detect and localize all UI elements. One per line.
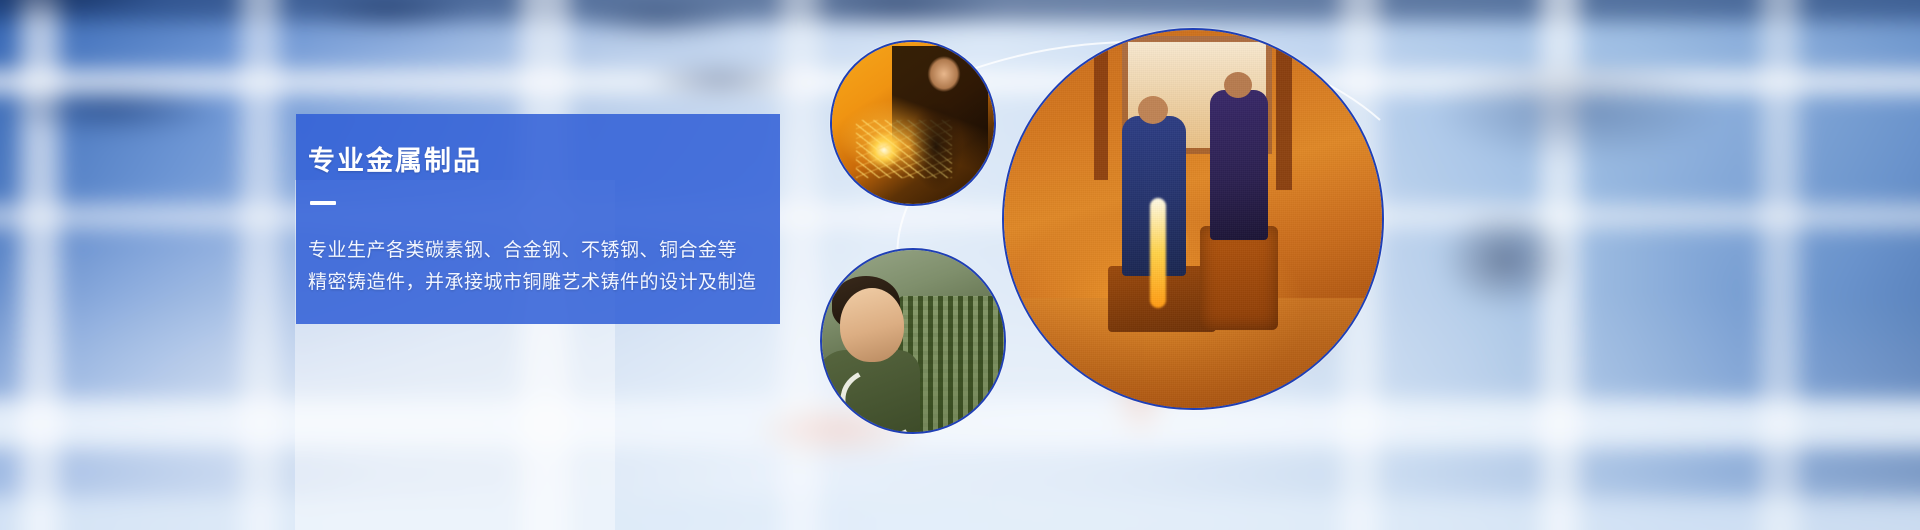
welding-sparks-photo: [830, 40, 996, 206]
panel-description: 专业生产各类碳素钢、合金钢、不锈钢、铜合金等 精密铸造件，并承接城市铜雕艺术铸件…: [308, 235, 780, 299]
title-divider-dash: [310, 201, 336, 205]
foundry-pour-photo: [1002, 28, 1384, 410]
panel-description-line-1: 专业生产各类碳素钢、合金钢、不锈钢、铜合金等: [308, 235, 780, 267]
worker-inspection-photo: [820, 248, 1006, 434]
photo-circle-cluster: [820, 0, 1520, 530]
panel-description-line-2: 精密铸造件，并承接城市铜雕艺术铸件的设计及制造: [308, 267, 780, 299]
banner-stage: 专业金属制品 专业生产各类碳素钢、合金钢、不锈钢、铜合金等 精密铸造件，并承接城…: [0, 0, 1920, 530]
promo-text-panel: 专业金属制品 专业生产各类碳素钢、合金钢、不锈钢、铜合金等 精密铸造件，并承接城…: [296, 114, 780, 324]
panel-title: 专业金属制品: [308, 148, 780, 175]
